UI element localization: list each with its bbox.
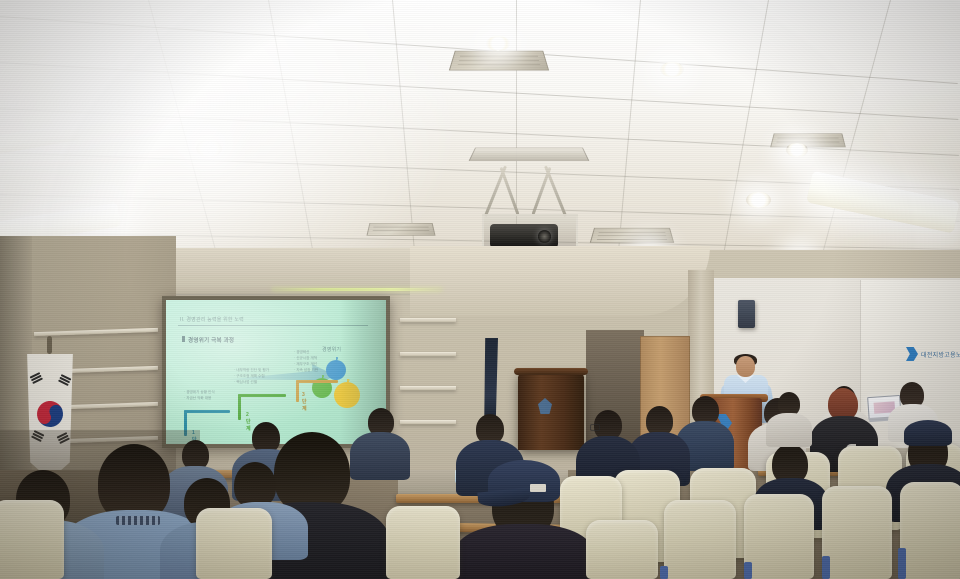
auditorium-seat[interactable] bbox=[822, 486, 892, 579]
ceiling-downlight bbox=[746, 192, 771, 208]
wall-shelf-ledge bbox=[400, 420, 456, 424]
auditorium-seat[interactable] bbox=[744, 494, 814, 579]
wall-speaker-icon bbox=[738, 300, 755, 328]
taeguk-symbol-icon bbox=[32, 397, 67, 432]
auditorium-seat[interactable] bbox=[386, 506, 460, 579]
soffit-curve bbox=[410, 246, 710, 316]
projector-lens-icon bbox=[538, 230, 551, 243]
wall-accent-stripe bbox=[272, 288, 442, 291]
auditorium-seat[interactable] bbox=[0, 500, 64, 579]
secondary-lectern bbox=[518, 372, 584, 450]
auditorium-seat[interactable] bbox=[900, 482, 960, 579]
trigram-icon bbox=[58, 374, 72, 387]
seat-leg bbox=[898, 548, 906, 579]
ceiling-projector bbox=[468, 140, 588, 250]
seat-leg bbox=[744, 562, 752, 579]
projector-mount-plate bbox=[469, 148, 590, 161]
organization-logo-icon bbox=[906, 347, 918, 361]
lanyard bbox=[116, 516, 160, 525]
wall-sign: 대전지방고용노동청 bbox=[906, 346, 960, 364]
wall-shelf-ledge bbox=[400, 386, 456, 390]
trigram-icon bbox=[30, 372, 44, 385]
cap-logo-icon bbox=[530, 484, 546, 492]
wall-shelf-ledge bbox=[400, 352, 456, 356]
flag-pole bbox=[47, 336, 52, 354]
auditorium-seat[interactable] bbox=[664, 500, 736, 579]
ceiling-vent bbox=[770, 133, 846, 147]
presenter-head bbox=[736, 356, 755, 377]
wall-sign-label: 대전지방고용노동청 bbox=[921, 350, 960, 359]
seat-leg bbox=[822, 556, 830, 579]
seat-leg bbox=[660, 566, 668, 579]
ceiling-vent bbox=[449, 51, 549, 71]
secondary-lectern-top bbox=[514, 368, 588, 375]
auditorium-seat[interactable] bbox=[586, 520, 658, 579]
ceiling-downlight bbox=[660, 62, 684, 77]
lecture-hall-photo: 대전지방고용노동청 II. 경영관리 능력을 위한 노력 경영위기 극복 과정 … bbox=[0, 0, 960, 579]
ceiling-vent bbox=[590, 228, 674, 243]
wall-shelf-ledge bbox=[400, 318, 456, 322]
auditorium-seat[interactable] bbox=[196, 508, 272, 579]
eyeglasses-icon bbox=[590, 424, 600, 431]
ceiling-downlight bbox=[786, 143, 808, 157]
ceiling-downlight bbox=[486, 36, 510, 51]
projection-screen[interactable]: II. 경영관리 능력을 위한 노력 경영위기 극복 과정 경영위기 1단계 ·… bbox=[166, 300, 386, 444]
